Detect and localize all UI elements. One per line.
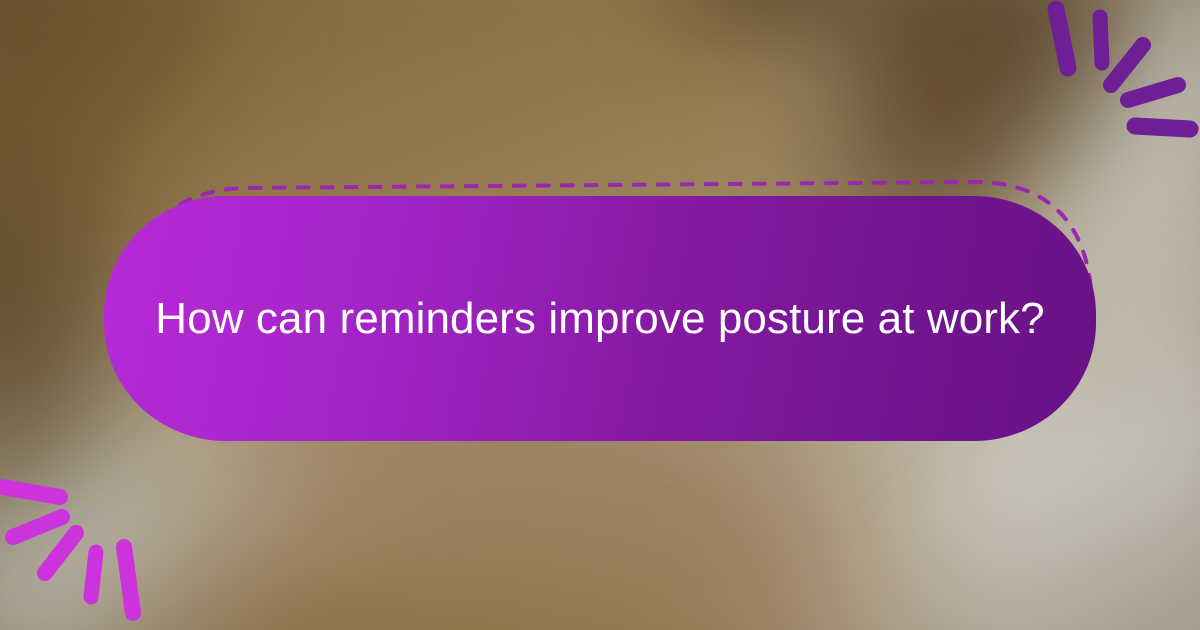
page-title: How can reminders improve posture at wor… bbox=[97, 291, 1102, 346]
question-pill: How can reminders improve posture at wor… bbox=[104, 196, 1096, 441]
sparkle-burst-icon-bottom-left bbox=[0, 465, 190, 630]
sparkle-burst-icon-top-right bbox=[1010, 0, 1200, 160]
social-share-card: How can reminders improve posture at wor… bbox=[0, 0, 1200, 630]
